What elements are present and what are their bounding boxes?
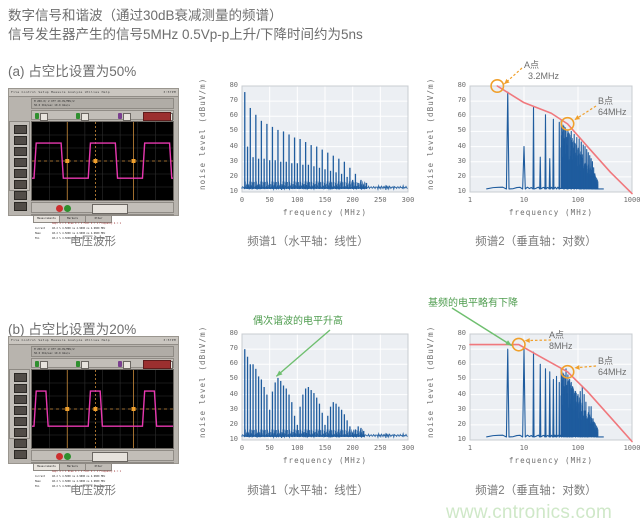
scope-a-rail-button-5[interactable]: [14, 169, 27, 178]
scope-a-channel-box-1[interactable]: [40, 113, 48, 121]
scope-a-rail-button-1[interactable]: [14, 125, 27, 134]
scope-b-rail-button-7[interactable]: [14, 439, 27, 448]
scope-a-channel-led-2[interactable]: [76, 113, 80, 119]
scope-b-info-2: 50.0 Ohm/sec 10.0 GSa/s: [34, 352, 70, 355]
scope-a-bottom-bar: [31, 202, 174, 213]
chart-b-linear-ytick-50: 50: [214, 374, 238, 382]
chart-a-log-ytick-60: 60: [442, 111, 466, 119]
scope-a-info-2: 50.0 Ohm/sec 10.0 GSa/s: [34, 104, 70, 107]
annot-b-log-note: 基频的电平略有下降: [428, 294, 518, 309]
scope-b-table-header: Ampl 4 = 1 Rise 4 = 1 Fall 4 = 1 Frequen…: [52, 470, 121, 473]
scope-b-channel-box-2[interactable]: [81, 361, 89, 369]
chart-a-log-ylabel: noise level (dBuV/m): [426, 88, 435, 190]
annot-b-linear-note: 偶次谐波的电平升高: [253, 312, 343, 327]
panel-a-label: (a) 占空比设置为50%: [8, 60, 136, 80]
chart-b-log-ytick-70: 70: [442, 344, 466, 352]
scope-b-rail-button-1[interactable]: [14, 373, 27, 382]
annot-a-point-a-title: A点: [524, 60, 539, 70]
caption-a-log: 频谱2（垂直轴：对数）: [466, 233, 606, 249]
scope-a-table-header: Ampl 4 = 1 Rise 4 = 1 Fall 4 = 1 Frequen…: [52, 222, 121, 225]
chart-b-log-ytick-40: 40: [442, 390, 466, 398]
chart-a-linear-ytick-80: 80: [214, 81, 238, 89]
scope-b-bottom-bar: [31, 450, 174, 461]
chart-b-log-ytick-20: 20: [442, 420, 466, 428]
chart-b-log-xtick-10: 10: [508, 444, 540, 452]
chart-b-log-ytick-60: 60: [442, 359, 466, 367]
chart-b-log-xlabel: frequency (MHz): [470, 456, 632, 465]
scope-b-info-1: M 200.0/ 2 Off 20.0V/MHz/2: [34, 348, 75, 351]
scope-b-field-1[interactable]: [92, 452, 128, 462]
scope-a-channel-box-2[interactable]: [81, 113, 89, 121]
oscilloscope-screenshot-b: File Control Setup Measure Analyze Utili…: [8, 336, 179, 464]
chart-a-log-ytick-50: 50: [442, 126, 466, 134]
scope-b-rail-button-4[interactable]: [14, 406, 27, 415]
scope-a-clock: 3:57PM: [163, 90, 176, 94]
chart-a-log-ytick-10: 10: [442, 187, 466, 195]
site-watermark: www.cntronics.com: [446, 502, 612, 524]
scope-a-rail-button-2[interactable]: [14, 136, 27, 145]
chart-a-linear-ytick-60: 60: [214, 111, 238, 119]
scope-b-play-icon[interactable]: [64, 453, 71, 460]
chart-a-log-ytick-20: 20: [442, 172, 466, 180]
scope-b-menubar: File Control Setup Measure Analyze Utili…: [9, 337, 178, 345]
chart-a-linear-ytick-30: 30: [214, 157, 238, 165]
annot-a-point-a-value: 3.2MHz: [528, 71, 559, 81]
chart-b-log-xtick-100: 100: [562, 444, 594, 452]
caption-a-linear: 频谱1（水平轴：线性）: [238, 233, 378, 249]
chart-a-linear-ytick-70: 70: [214, 96, 238, 104]
chart-a-log-ytick-40: 40: [442, 142, 466, 150]
scope-a-table-rowlabel-0: Current: [35, 227, 45, 230]
scope-b-rail-button-6[interactable]: [14, 428, 27, 437]
page-header: 数字信号和谐波（通过30dB衰减测量的频谱） 信号发生器产生的信号5MHz 0.…: [8, 6, 632, 44]
chart-a-linear-ytick-50: 50: [214, 126, 238, 134]
scope-a-left-rail: [9, 121, 30, 191]
scope-a-channelbar: [31, 110, 174, 120]
chart-a-log-xtick-10: 10: [508, 196, 540, 204]
caption-a-scope: 电压波形: [33, 233, 153, 249]
scope-b-rail-button-3[interactable]: [14, 395, 27, 404]
scope-b-clock: 3:57PM: [163, 338, 176, 342]
scope-a-channel-led-3[interactable]: [118, 113, 122, 119]
chart-b-linear-ytick-40: 40: [214, 390, 238, 398]
scope-a-rail-button-3[interactable]: [14, 147, 27, 156]
caption-b-log: 频谱2（垂直轴：对数）: [466, 482, 606, 498]
header-line-2: 信号发生器产生的信号5MHz 0.5Vp-p上升/下降时间约为5ns: [8, 25, 632, 44]
chart-a-log-xlabel: frequency (MHz): [470, 208, 632, 217]
scope-b-channel-led-1[interactable]: [35, 361, 39, 367]
chart-a-linear-xtick-300: 300: [392, 196, 424, 204]
annot-b-point-a-value: 8MHz: [549, 341, 573, 351]
chart-a-linear-ytick-40: 40: [214, 142, 238, 150]
scope-b-left-rail: [9, 369, 30, 439]
scope-a-infobar: M 200.0/ 2 Off 20.0V/MHz/250.0 Ohm/sec 1…: [31, 98, 174, 109]
chart-b-linear-ytick-60: 60: [214, 359, 238, 367]
scope-a-rail-button-4[interactable]: [14, 158, 27, 167]
scope-a-menubar: File Control Setup Measure Analyze Utili…: [9, 89, 178, 97]
scope-a-graticule: [31, 121, 174, 201]
chart-b-log-xtick-1000: 1000: [616, 444, 640, 452]
scope-a-menu-items[interactable]: File Control Setup Measure Analyze Utili…: [11, 90, 110, 94]
scope-a-channel-led-1[interactable]: [35, 113, 39, 119]
chart-b-log-ytick-50: 50: [442, 374, 466, 382]
chart-b-log-ylabel: noise level (dBuV/m): [426, 336, 435, 438]
chart-a-linear-xlabel: frequency (MHz): [242, 208, 408, 217]
annot-a-point-a: A点 3.2MHz: [524, 60, 559, 82]
chart-a-log-ytick-70: 70: [442, 96, 466, 104]
oscilloscope-screenshot-a: File Control Setup Measure Analyze Utili…: [8, 88, 179, 216]
scope-b-graticule: [31, 369, 174, 449]
chart-b-linear-ytick-20: 20: [214, 420, 238, 428]
chart-b-log: 10203040506070801101001000noise level (d…: [424, 326, 640, 474]
chart-b-linear-xtick-300: 300: [392, 444, 424, 452]
scope-b-rail-button-8[interactable]: [14, 450, 27, 459]
chart-b-log-ytick-30: 30: [442, 405, 466, 413]
annot-b-point-a-title: A点: [549, 330, 564, 340]
scope-b-channel-box-3[interactable]: [123, 361, 131, 369]
header-line-1: 数字信号和谐波（通过30dB衰减测量的频谱）: [8, 6, 632, 25]
annot-b-point-a: A点 8MHz: [549, 330, 573, 352]
chart-b-linear-ytick-80: 80: [214, 329, 238, 337]
scope-b-table-rowvals-0: 48.2 % 4.5000 ns 4.9000 ns 4.9800 MHz: [52, 475, 105, 478]
scope-a-rail-button-6[interactable]: [14, 180, 27, 189]
chart-b-linear-ytick-10: 10: [214, 435, 238, 443]
scope-b-menu-items[interactable]: File Control Setup Measure Analyze Utili…: [11, 338, 110, 342]
chart-b-log-ytick-10: 10: [442, 435, 466, 443]
chart-a-linear-ytick-20: 20: [214, 172, 238, 180]
chart-a-log-xtick-1000: 1000: [616, 196, 640, 204]
scope-a-table-rowvals-0: 48.2 % 4.5000 ns 4.9000 ns 4.9800 MHz: [52, 227, 105, 230]
scope-a-field-1[interactable]: [92, 204, 128, 214]
chart-a-linear-ylabel: noise level (dBuV/m): [198, 88, 207, 190]
scope-b-channelbar: [31, 358, 174, 368]
annot-a-point-b-value: 64MHz: [598, 107, 627, 117]
annot-b-point-b-value: 64MHz: [598, 367, 627, 377]
scope-a-measurement-table: MeasurementsMarkersOtherAmpl 4 = 1 Rise …: [31, 214, 174, 216]
chart-a-log-xtick-100: 100: [562, 196, 594, 204]
chart-b-linear-ylabel: noise level (dBuV/m): [198, 336, 207, 438]
chart-a-log-xtick-1: 1: [454, 196, 486, 204]
chart-b-linear-ytick-30: 30: [214, 405, 238, 413]
chart-b-linear-xlabel: frequency (MHz): [242, 456, 408, 465]
annot-b-point-b-title: B点: [598, 356, 613, 366]
scope-a-run-button[interactable]: [143, 112, 171, 121]
chart-a-linear: 1020304050607080050100150200250300noise …: [196, 78, 416, 226]
scope-a-info-1: M 200.0/ 2 Off 20.0V/MHz/2: [34, 100, 75, 103]
scope-a-rail-button-7[interactable]: [14, 191, 27, 200]
scope-b-measurement-table: MeasurementsMarkersOtherAmpl 4 = 1 Rise …: [31, 462, 174, 464]
scope-b-channel-led-3[interactable]: [118, 361, 122, 367]
annot-a-point-b: B点 64MHz: [598, 96, 627, 118]
scope-b-channel-led-2[interactable]: [76, 361, 80, 367]
scope-a-channel-box-3[interactable]: [123, 113, 131, 121]
chart-a-log-ytick-80: 80: [442, 81, 466, 89]
caption-b-scope: 电压波形: [33, 482, 153, 498]
scope-b-channel-box-1[interactable]: [40, 361, 48, 369]
scope-a-play-icon[interactable]: [64, 205, 71, 212]
scope-b-rail-button-5[interactable]: [14, 417, 27, 426]
caption-b-linear: 频谱1（水平轴：线性）: [238, 482, 378, 498]
scope-b-run-button[interactable]: [143, 360, 171, 369]
scope-a-record-icon[interactable]: [56, 205, 63, 212]
panel-b-label: (b) 占空比设置为20%: [8, 318, 136, 338]
chart-b-log-xtick-1: 1: [454, 444, 486, 452]
chart-b-linear-ytick-70: 70: [214, 344, 238, 352]
chart-a-linear-ytick-10: 10: [214, 187, 238, 195]
scope-b-record-icon[interactable]: [56, 453, 63, 460]
chart-b-linear: 1020304050607080050100150200250300noise …: [196, 326, 416, 474]
scope-b-infobar: M 200.0/ 2 Off 20.0V/MHz/250.0 Ohm/sec 1…: [31, 346, 174, 357]
scope-a-rail-button-8[interactable]: [14, 202, 27, 211]
annot-b-point-b: B点 64MHz: [598, 356, 627, 378]
scope-b-table-rowlabel-0: Current: [35, 475, 45, 478]
annot-a-point-b-title: B点: [598, 96, 613, 106]
scope-b-rail-button-2[interactable]: [14, 384, 27, 393]
chart-a-log-ytick-30: 30: [442, 157, 466, 165]
chart-b-log-ytick-80: 80: [442, 329, 466, 337]
